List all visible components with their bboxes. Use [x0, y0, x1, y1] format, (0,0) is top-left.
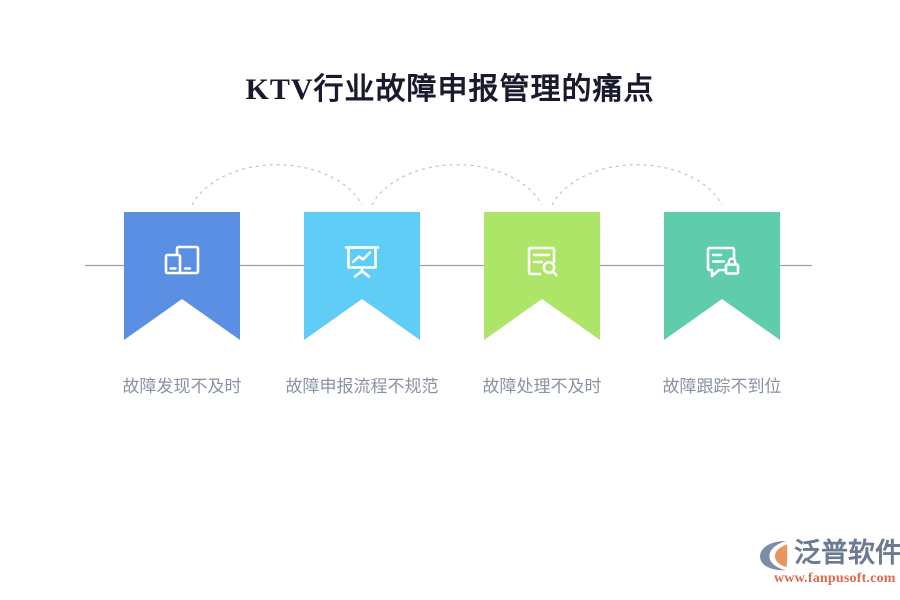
step-item-4[interactable]: 故障跟踪不到位 — [664, 212, 780, 340]
chat-lock-icon — [664, 236, 780, 288]
step-label-4: 故障跟踪不到位 — [602, 375, 842, 399]
presentation-chart-icon — [304, 236, 420, 288]
logo-wordmark: 泛普软件 — [794, 537, 900, 569]
step-list: 故障发现不及时 故障申报流程不规范 — [0, 0, 900, 600]
brand-logo[interactable]: 泛普软件 www.fanpusoft.com — [756, 535, 892, 591]
infographic-canvas: KTV行业故障申报管理的痛点 故障发现不及时 — [0, 0, 900, 600]
ribbon-shape-4 — [664, 212, 780, 340]
ribbon-shape-3 — [484, 212, 600, 340]
step-item-3[interactable]: 故障处理不及时 — [484, 212, 600, 340]
document-search-icon — [484, 236, 600, 288]
step-item-2[interactable]: 故障申报流程不规范 — [304, 212, 420, 340]
ribbon-shape-1 — [124, 212, 240, 340]
fanpu-crescent-icon — [756, 539, 796, 573]
logo-url: www.fanpusoft.com — [774, 571, 896, 587]
ribbon-shape-2 — [304, 212, 420, 340]
devices-icon — [124, 236, 240, 288]
step-item-1[interactable]: 故障发现不及时 — [124, 212, 240, 340]
